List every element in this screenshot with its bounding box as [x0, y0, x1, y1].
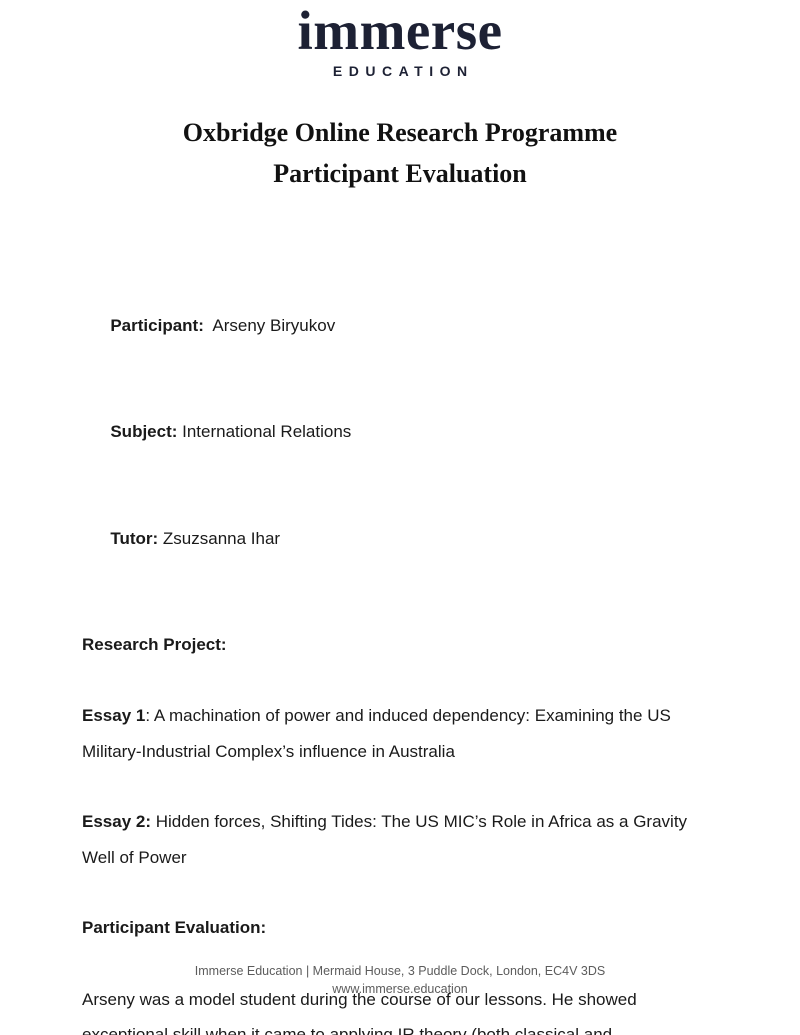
footer-address: Immerse Education | Mermaid House, 3 Pud… — [0, 962, 800, 980]
tutor-value: Zsuzsanna Ihar — [158, 529, 280, 548]
spacer — [82, 875, 710, 910]
essay-1-entry: Essay 1: A machination of power and indu… — [82, 698, 710, 769]
footer-website: www.immerse.education — [0, 980, 800, 998]
spacer — [82, 662, 710, 698]
subject-label: Subject: — [110, 422, 177, 441]
immerse-logo: immerse EDUCATION — [0, 4, 800, 79]
research-project-heading: Research Project: — [82, 627, 710, 663]
document-body: Participant: Arseny Biryukov Subject: In… — [82, 272, 710, 1035]
tutor-row: Tutor: Zsuzsanna Ihar — [82, 485, 710, 592]
participant-value: Arseny Biryukov — [204, 316, 335, 335]
page-title-line-2: Participant Evaluation — [80, 153, 720, 194]
participant-label: Participant: — [110, 316, 204, 335]
logo-subtitle: EDUCATION — [0, 63, 800, 79]
essay-1-title: A machination of power and induced depen… — [82, 706, 671, 761]
subject-value: International Relations — [177, 422, 351, 441]
spacer — [82, 769, 710, 804]
essay-2-entry: Essay 2: Hidden forces, Shifting Tides: … — [82, 804, 710, 875]
page-footer: Immerse Education | Mermaid House, 3 Pud… — [0, 962, 800, 998]
participant-evaluation-heading: Participant Evaluation: — [82, 910, 710, 946]
logo-wordmark: immerse — [0, 4, 800, 58]
page-title-line-1: Oxbridge Online Research Programme — [80, 112, 720, 153]
essay-2-label: Essay 2: — [82, 812, 151, 831]
essay-1-separator: : — [145, 706, 154, 725]
page-title: Oxbridge Online Research Programme Parti… — [80, 112, 720, 194]
tutor-label: Tutor: — [110, 529, 158, 548]
essay-2-title: Hidden forces, Shifting Tides: The US MI… — [82, 812, 687, 867]
document-page: immerse EDUCATION Oxbridge Online Resear… — [0, 0, 800, 1035]
essay-1-label: Essay 1 — [82, 706, 145, 725]
participant-row: Participant: Arseny Biryukov — [82, 272, 710, 379]
spacer — [82, 592, 710, 627]
subject-row: Subject: International Relations — [82, 379, 710, 486]
